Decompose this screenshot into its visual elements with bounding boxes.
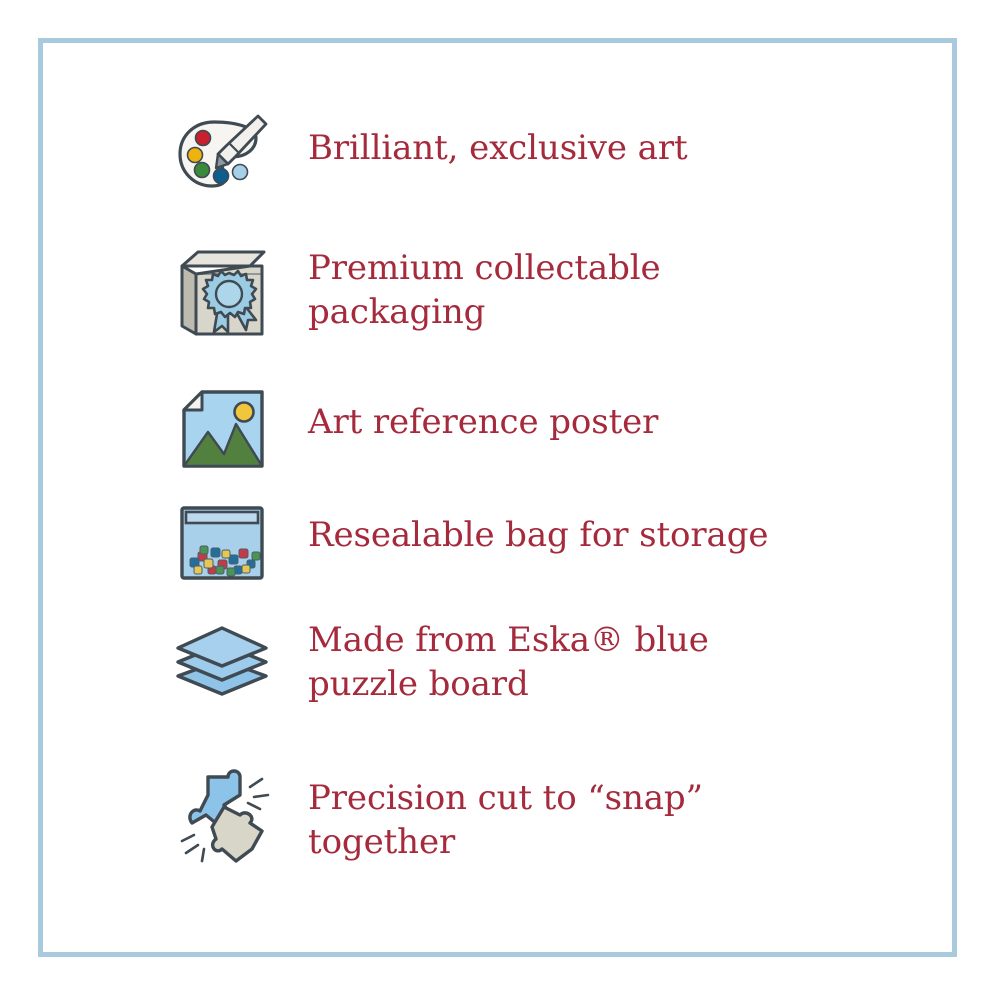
feature-label: Resealable bag for storage: [308, 495, 768, 557]
feature-row: Art reference poster: [168, 382, 928, 478]
feature-row: Resealable bag for storage: [168, 495, 928, 591]
feature-label: Art reference poster: [308, 382, 658, 444]
resealable-bag-icon: [168, 495, 276, 591]
layered-board-icon: [168, 612, 276, 708]
feature-row: Made from Eska® blue puzzle board: [168, 612, 928, 708]
product-feature-card: Brilliant, exclusive art: [0, 0, 1000, 1000]
paint-palette-icon: [168, 108, 276, 204]
feature-label: Brilliant, exclusive art: [308, 108, 688, 170]
feature-label: Premium collectable packaging: [308, 240, 661, 334]
feature-row: Brilliant, exclusive art: [168, 108, 928, 204]
feature-label: Precision cut to “snap” together: [308, 770, 703, 864]
poster-image-icon: [168, 382, 276, 478]
puzzle-pieces-snap-icon: [168, 770, 276, 866]
feature-list: Brilliant, exclusive art: [0, 0, 1000, 1000]
feature-label: Made from Eska® blue puzzle board: [308, 612, 709, 706]
premium-box-badge-icon: [168, 240, 276, 336]
feature-row: Premium collectable packaging: [168, 240, 928, 336]
feature-row: Precision cut to “snap” together: [168, 770, 928, 866]
